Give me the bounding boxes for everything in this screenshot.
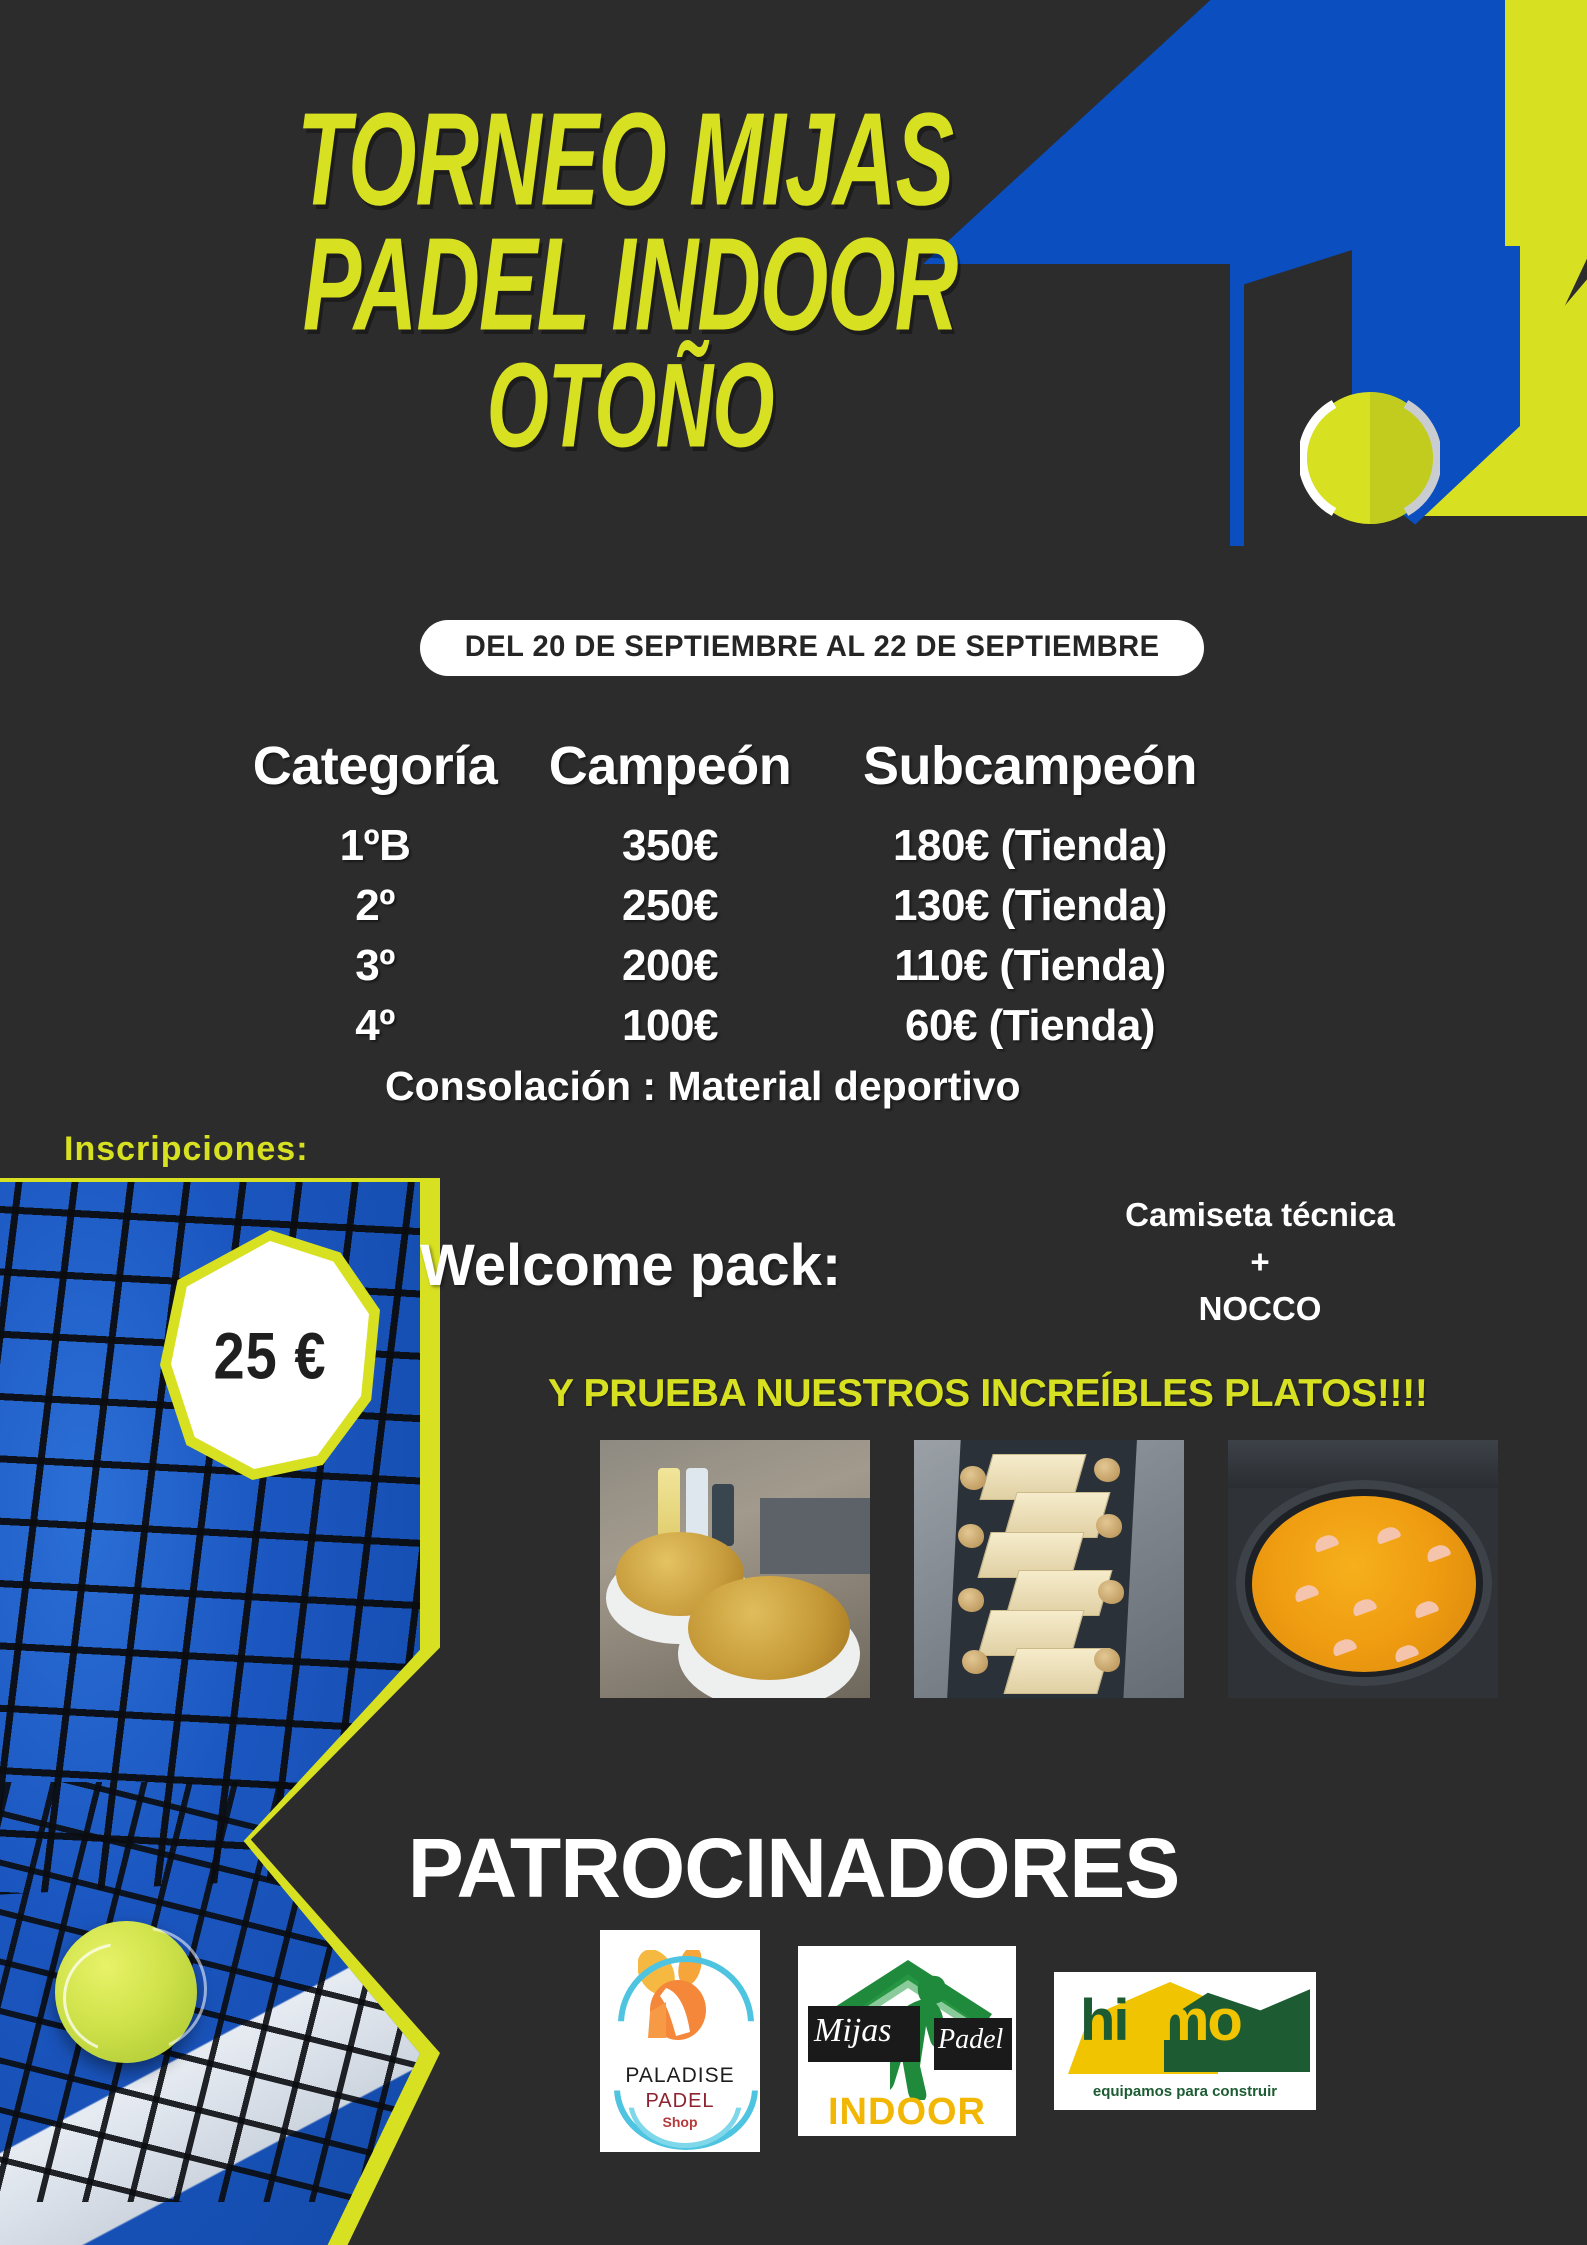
- hiemo-tagline: equipamos para construir: [1054, 2083, 1316, 2100]
- cell-categoria: 3º: [225, 941, 525, 991]
- date-banner: DEL 20 DE SEPTIEMBRE AL 22 DE SEPTIEMBRE: [420, 620, 1204, 676]
- table-row: 3º 200€ 110€ (Tienda): [225, 941, 1385, 991]
- registration-price-badge: 25 €: [160, 1230, 380, 1480]
- pack-item-1: Camiseta técnica: [1090, 1192, 1430, 1239]
- tennis-ball-photo: [55, 1921, 197, 2063]
- walnut: [1094, 1648, 1120, 1672]
- cell-categoria: 2º: [225, 881, 525, 931]
- header-campeon: Campeón: [525, 735, 815, 797]
- walnut: [1098, 1580, 1124, 1604]
- paladise-name: PALADISE: [600, 2064, 760, 2088]
- sponsor-logo-hiemo[interactable]: hiemo equipamos para construir: [1054, 1972, 1316, 2110]
- sponsor-logo-paladise[interactable]: PALADISE PADEL Shop: [600, 1930, 760, 2152]
- welcome-pack-contents: Camiseta técnica + NOCCO: [1090, 1192, 1430, 1333]
- cell-subcampeon: 180€ (Tienda): [815, 821, 1245, 871]
- tortilla-2: [688, 1576, 850, 1680]
- walnut: [962, 1650, 988, 1674]
- cell-campeon: 350€: [525, 821, 815, 871]
- prize-table-header-row: Categoría Campeón Subcampeón: [225, 735, 1385, 797]
- food-callout-text: Y PRUEBA NUESTROS INCREÍBLES PLATOS!!!!: [548, 1372, 1428, 1416]
- walnut: [1096, 1514, 1122, 1538]
- hiemo-part-2: e: [1128, 1988, 1158, 2053]
- food-photo-gallery: [600, 1440, 1498, 1698]
- table-row: 1ºB 350€ 180€ (Tienda): [225, 821, 1385, 871]
- poster-title: TORNEO MIJAS PADEL INDOOR OTOÑO: [0, 98, 1260, 425]
- walnut: [1094, 1458, 1120, 1482]
- prize-table: Categoría Campeón Subcampeón 1ºB 350€ 18…: [225, 735, 1385, 1110]
- title-line-2: PADEL INDOOR: [0, 223, 1260, 347]
- registration-price-text: 25 €: [214, 1317, 327, 1394]
- paella-photo: [1228, 1440, 1498, 1698]
- paladise-shop-label: Shop: [600, 2114, 760, 2130]
- cell-subcampeon: 130€ (Tienda): [815, 881, 1245, 931]
- tournament-poster: TORNEO MIJAS PADEL INDOOR OTOÑO DEL 20 D…: [0, 0, 1587, 2245]
- mijas-word: Mijas: [814, 2012, 924, 2050]
- registration-label: Inscripciones:: [64, 1130, 309, 1169]
- tortilla-espanola-photo: [600, 1440, 870, 1698]
- header-categoria: Categoría: [225, 735, 525, 797]
- rice: [1252, 1496, 1476, 1672]
- sponsor-logo-mijas-padel-indoor[interactable]: Mijas Padel INDOOR: [798, 1946, 1016, 2136]
- cell-campeon: 100€: [525, 1001, 815, 1051]
- sponsors-heading: PATROCINADORES: [0, 1820, 1587, 1917]
- walnut: [958, 1524, 984, 1548]
- tennis-ball-icon: [1300, 388, 1440, 528]
- walnut: [960, 1466, 986, 1490]
- title-line-1: TORNEO MIJAS: [0, 98, 1260, 222]
- pack-item-2: NOCCO: [1090, 1286, 1430, 1333]
- hiemo-part-1: hi: [1080, 1988, 1128, 2053]
- kitchen-sink: [760, 1498, 870, 1574]
- paladise-subtitle: PADEL: [600, 2090, 760, 2113]
- consolation-prize-text: Consolación : Material deportivo: [385, 1063, 1385, 1110]
- cell-categoria: 1ºB: [225, 821, 525, 871]
- title-line-3: OTOÑO: [0, 349, 1260, 462]
- bottle-3: [712, 1484, 734, 1546]
- pack-plus-sign: +: [1090, 1239, 1430, 1286]
- cell-categoria: 4º: [225, 1001, 525, 1051]
- cell-subcampeon: 110€ (Tienda): [815, 941, 1245, 991]
- cheese-board-photo: [914, 1440, 1184, 1698]
- cell-campeon: 200€: [525, 941, 815, 991]
- cell-campeon: 250€: [525, 881, 815, 931]
- hiemo-part-3: mo: [1158, 1988, 1241, 2053]
- indoor-word: INDOOR: [798, 2091, 1016, 2134]
- padel-word: Padel: [938, 2024, 1016, 2056]
- table-row: 2º 250€ 130€ (Tienda): [225, 881, 1385, 931]
- hiemo-wordmark: hiemo: [1080, 1992, 1241, 2050]
- sponsor-logos: PALADISE PADEL Shop Mijas Padel INDOOR h…: [600, 1930, 1316, 2152]
- welcome-pack-title: Welcome pack:: [420, 1232, 841, 1299]
- table-row: 4º 100€ 60€ (Tienda): [225, 1001, 1385, 1051]
- date-banner-text: DEL 20 DE SEPTIEMBRE AL 22 DE SEPTIEMBRE: [465, 630, 1160, 664]
- cell-subcampeon: 60€ (Tienda): [815, 1001, 1245, 1051]
- walnut: [958, 1588, 984, 1612]
- header-subcampeon: Subcampeón: [815, 735, 1245, 797]
